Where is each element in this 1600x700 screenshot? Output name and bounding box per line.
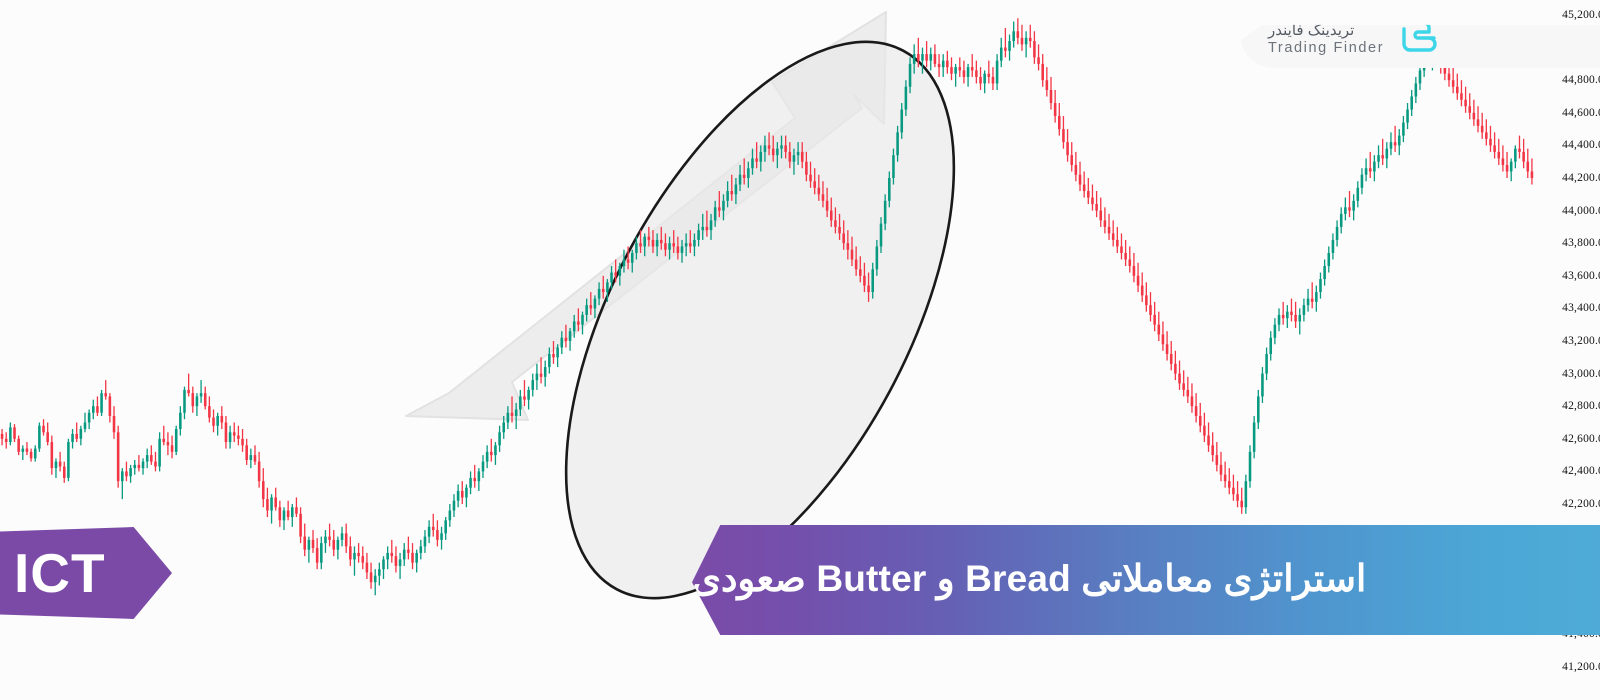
screenshot-stage: 45,200.045,000.044,800.044,600.044,400.0… (0, 0, 1600, 700)
brand-name-en: Trading Finder (1268, 40, 1384, 56)
ict-badge-label: ICT (0, 546, 106, 601)
title-banner: استراتژی معاملاتی Bread و Butter صعودی (692, 525, 1600, 635)
brand-name-fa: تریدینگ فایندر (1268, 23, 1354, 40)
banner-title: استراتژی معاملاتی Bread و Butter صعودی (692, 557, 1392, 604)
